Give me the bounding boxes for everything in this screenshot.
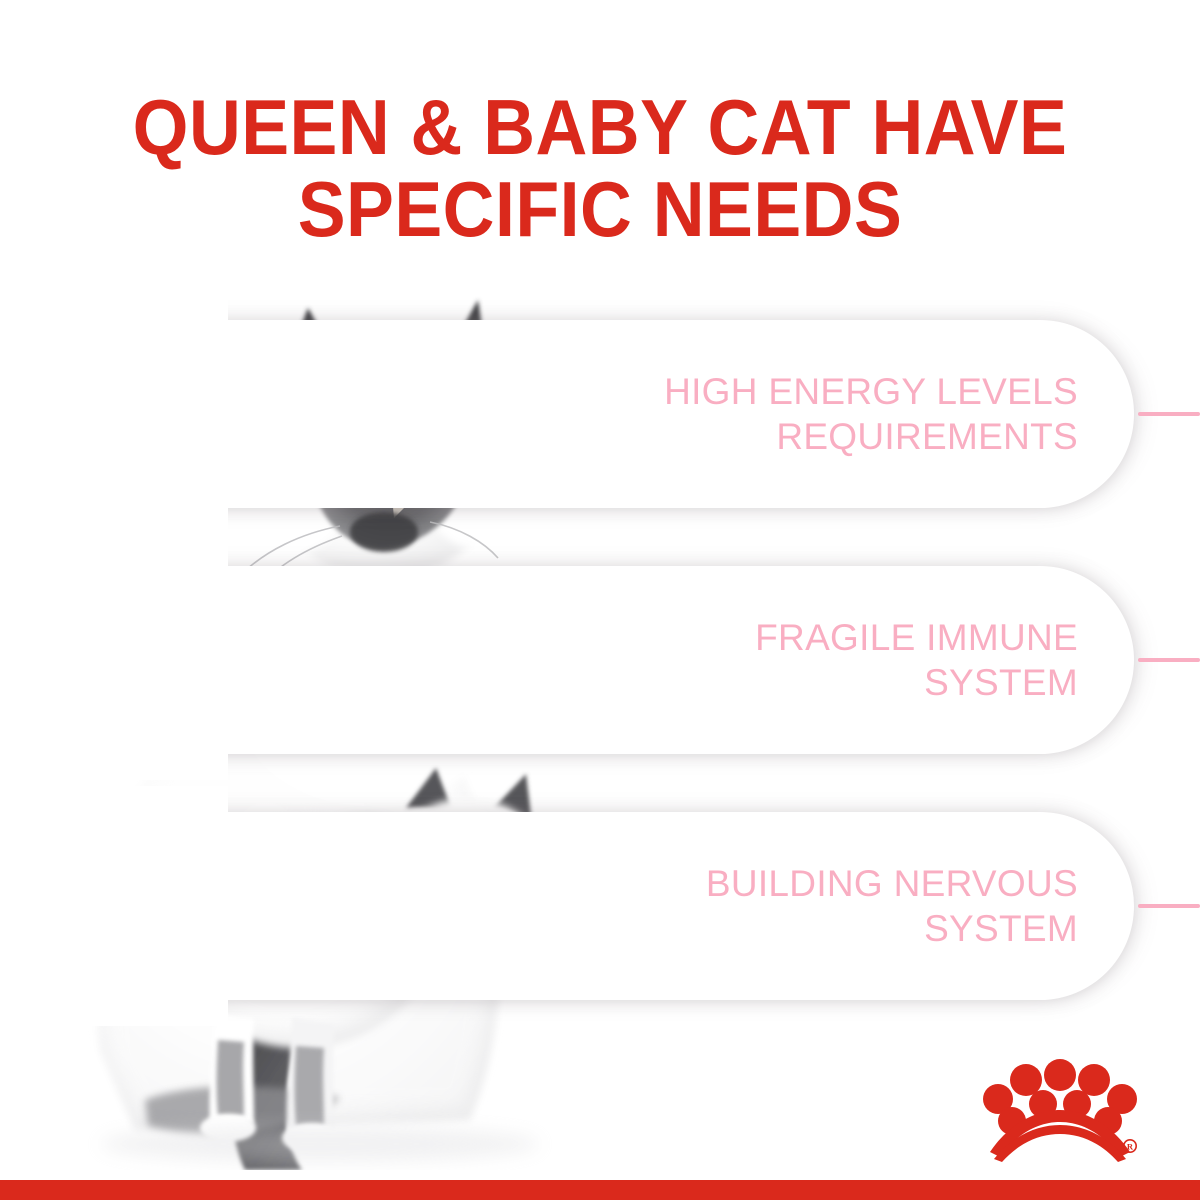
callout-label-fragile-immune: FRAGILE IMMUNE SYSTEM [648, 615, 1078, 705]
royal-canin-crown-icon: R [980, 1058, 1140, 1162]
page-title-line-1: QUEEN & BABY CAT HAVE [48, 86, 1152, 168]
page-title-line-2: SPECIFIC NEEDS [48, 168, 1152, 250]
callout-panel-fragile-immune[interactable]: FRAGILE IMMUNE SYSTEM [0, 566, 1134, 754]
callout-connector-line-3 [1138, 904, 1200, 908]
callout-label-high-energy: HIGH ENERGY LEVELS REQUIREMENTS [648, 369, 1078, 459]
page-title: QUEEN & BABY CAT HAVE SPECIFIC NEEDS [48, 86, 1152, 250]
callout-panel-building-nervous[interactable]: BUILDING NERVOUS SYSTEM [0, 812, 1134, 1000]
callout-label-building-nervous: BUILDING NERVOUS SYSTEM [648, 861, 1078, 951]
callout-connector-line-1 [1138, 412, 1200, 416]
poster-canvas: QUEEN & BABY CAT HAVE SPECIFIC NEEDS [0, 0, 1200, 1200]
callout-panel-high-energy[interactable]: HIGH ENERGY LEVELS REQUIREMENTS [0, 320, 1134, 508]
footer-accent-bar [0, 1180, 1200, 1200]
svg-text:R: R [1127, 1142, 1134, 1152]
callout-connector-line-2 [1138, 658, 1200, 662]
